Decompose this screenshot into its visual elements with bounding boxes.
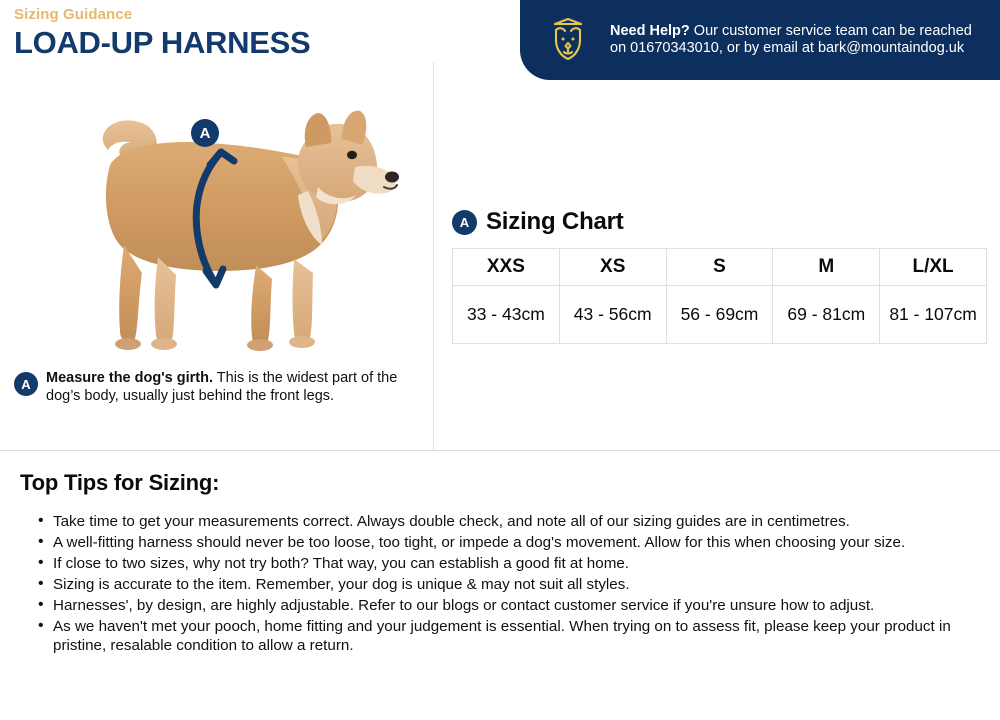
measure-caption: A Measure the dog's girth. This is the w… [14, 370, 424, 405]
dog-illustration: A [50, 95, 400, 370]
list-item: Take time to get your measurements corre… [20, 512, 985, 531]
table-cell-measurement: 33 - 43cm [453, 286, 560, 344]
list-item: As we haven't met your pooch, home fitti… [20, 617, 985, 655]
tips-title: Top Tips for Sizing: [20, 470, 985, 496]
tips-list: Take time to get your measurements corre… [20, 512, 985, 655]
caption-text: Measure the dog's girth. This is the wid… [46, 370, 424, 405]
table-header-cell: S [666, 249, 773, 286]
sizing-chart-heading: A Sizing Chart [452, 208, 987, 236]
girth-measurement-arrow-icon [50, 95, 400, 370]
need-help-banner: Need Help? Our customer service team can… [520, 0, 1000, 80]
marker-a-badge: A [191, 119, 219, 147]
sizing-chart-section: A Sizing Chart XXS XS S M L/XL 33 - 43cm… [452, 208, 987, 344]
need-help-text: Need Help? Our customer service team can… [610, 23, 980, 58]
table-header-cell: M [773, 249, 880, 286]
table-header-row: XXS XS S M L/XL [453, 249, 987, 286]
need-help-lead: Need Help? [610, 23, 690, 39]
sizing-table: XXS XS S M L/XL 33 - 43cm 43 - 56cm 56 -… [452, 248, 987, 344]
table-row: 33 - 43cm 43 - 56cm 56 - 69cm 69 - 81cm … [453, 286, 987, 344]
caption-bold: Measure the dog's girth. [46, 370, 213, 386]
list-item: A well-fitting harness should never be t… [20, 533, 985, 552]
table-cell-measurement: 69 - 81cm [773, 286, 880, 344]
horizontal-divider [0, 450, 1000, 451]
table-cell-measurement: 56 - 69cm [666, 286, 773, 344]
table-header-cell: XXS [453, 249, 560, 286]
sizing-guide-page: Sizing Guidance LOAD-UP HARNESS Need Hel… [0, 0, 1000, 720]
eyebrow-label: Sizing Guidance [14, 6, 310, 24]
caption-badge-a: A [14, 372, 38, 396]
vertical-divider [433, 62, 434, 450]
chart-title: Sizing Chart [486, 208, 624, 236]
chart-badge-a: A [452, 210, 477, 235]
page-title: LOAD-UP HARNESS [14, 25, 310, 61]
top-tips-section: Top Tips for Sizing: Take time to get yo… [20, 470, 985, 657]
table-cell-measurement: 43 - 56cm [559, 286, 666, 344]
table-header-cell: L/XL [880, 249, 987, 286]
list-item: If close to two sizes, why not try both?… [20, 554, 985, 573]
list-item: Sizing is accurate to the item. Remember… [20, 575, 985, 594]
table-cell-measurement: 81 - 107cm [880, 286, 987, 344]
mountain-dog-head-logo-icon [542, 14, 594, 66]
page-header: Sizing Guidance LOAD-UP HARNESS [14, 6, 310, 61]
table-header-cell: XS [559, 249, 666, 286]
list-item: Harnesses', by design, are highly adjust… [20, 596, 985, 615]
